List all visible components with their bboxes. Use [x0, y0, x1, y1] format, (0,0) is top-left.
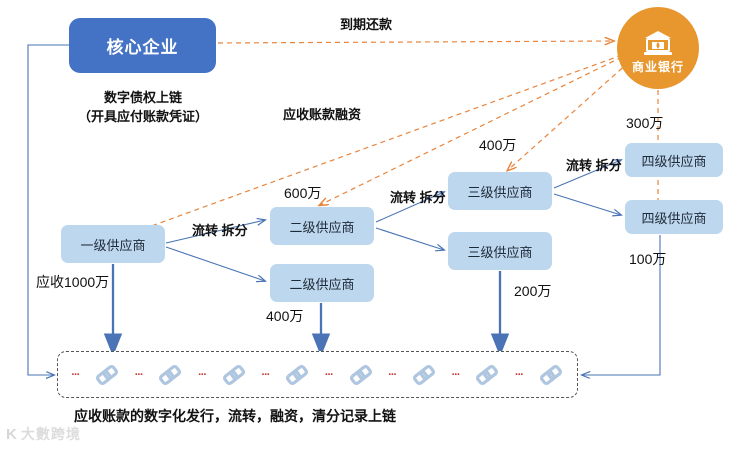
chain-separator: ···	[388, 369, 396, 381]
supplier-tier2-b-label: 二级供应商	[289, 274, 354, 293]
supplier-tier2-a-node[interactable]: 二级供应商	[270, 207, 374, 245]
watermark-text: 大數跨境	[21, 424, 81, 444]
supplier-tier2-a-label: 二级供应商	[289, 217, 354, 236]
chain-link-icon	[94, 362, 120, 388]
edge-bank-to-supplier-t3-400	[508, 62, 629, 170]
supplier-tier3-b-node[interactable]: 三级供应商	[448, 232, 552, 270]
blockchain-ledger-box: ························	[57, 351, 578, 398]
chain-separator: ···	[71, 369, 79, 381]
supplier-tier4-a-node[interactable]: 四级供应商	[625, 143, 723, 177]
diagram-canvas: 核心企业 商业银行 一级供应商 二级供应商 二级供应商 三级供应商 三级供应商 …	[0, 0, 737, 453]
amount-300-label: 300万	[626, 113, 663, 133]
chain-separator: ···	[135, 369, 143, 381]
chain-link-icon	[221, 362, 247, 388]
flow-split-label-3: 流转 拆分	[566, 157, 622, 174]
chain-separator: ···	[452, 369, 460, 381]
repayment-on-maturity-label: 到期还款	[340, 14, 392, 33]
supplier-tier4-b-label: 四级供应商	[641, 208, 706, 227]
digital-credit-onchain-label: 数字债权上链 （开具应付账款凭证）	[63, 88, 223, 126]
edge-t2a-to-t3b	[376, 228, 444, 250]
amount-600-label: 600万	[284, 183, 321, 203]
amount-200-label: 200万	[514, 281, 551, 301]
chain-link-icon	[157, 362, 183, 388]
supplier-tier3-a-node[interactable]: 三级供应商	[448, 172, 552, 210]
watermark-logo-icon: K	[6, 427, 17, 442]
chain-separator: ···	[325, 369, 333, 381]
edge-core-to-bank-repayment	[218, 41, 613, 43]
supplier-tier1-label: 一级供应商	[80, 235, 145, 254]
commercial-bank-label: 商业银行	[632, 58, 684, 75]
amount-400-tier2-label: 400万	[266, 306, 303, 326]
supplier-tier3-a-label: 三级供应商	[467, 182, 532, 201]
chain-separator: ···	[261, 369, 269, 381]
bank-building-icon	[643, 30, 673, 56]
supplier-tier2-b-node[interactable]: 二级供应商	[270, 264, 374, 302]
blockchain-caption: 应收账款的数字化发行，流转，融资，清分记录上链	[74, 406, 396, 426]
amount-400-tier3-label: 400万	[479, 135, 516, 155]
edge-t3a-to-t4b	[554, 194, 621, 215]
chain-link-icon	[538, 362, 564, 388]
chain-separator: ···	[198, 369, 206, 381]
chain-link-icon	[284, 362, 310, 388]
chain-link-icon	[474, 362, 500, 388]
supplier-tier3-b-label: 三级供应商	[467, 242, 532, 261]
watermark: K 大數跨境	[6, 424, 81, 444]
supplier-tier1-node[interactable]: 一级供应商	[61, 225, 165, 263]
amount-100-label: 100万	[629, 249, 666, 269]
supplier-tier4-b-node[interactable]: 四级供应商	[625, 200, 723, 234]
core-enterprise-node[interactable]: 核心企业	[69, 18, 216, 73]
chain-link-icon	[411, 362, 437, 388]
chain-separator: ···	[515, 369, 523, 381]
flow-split-label-2: 流转 拆分	[390, 189, 446, 206]
flow-split-label-1: 流转 拆分	[192, 222, 248, 239]
core-enterprise-label: 核心企业	[107, 33, 179, 58]
chain-link-icon	[348, 362, 374, 388]
edge-t1-to-t2b	[166, 247, 265, 281]
supplier-tier4-a-label: 四级供应商	[641, 151, 706, 170]
receivables-financing-label: 应收账款融资	[283, 104, 361, 123]
receivable-1000-label: 应收1000万	[36, 272, 109, 292]
blockchain-link-row: ························	[58, 352, 577, 397]
commercial-bank-node[interactable]: 商业银行	[617, 7, 699, 89]
